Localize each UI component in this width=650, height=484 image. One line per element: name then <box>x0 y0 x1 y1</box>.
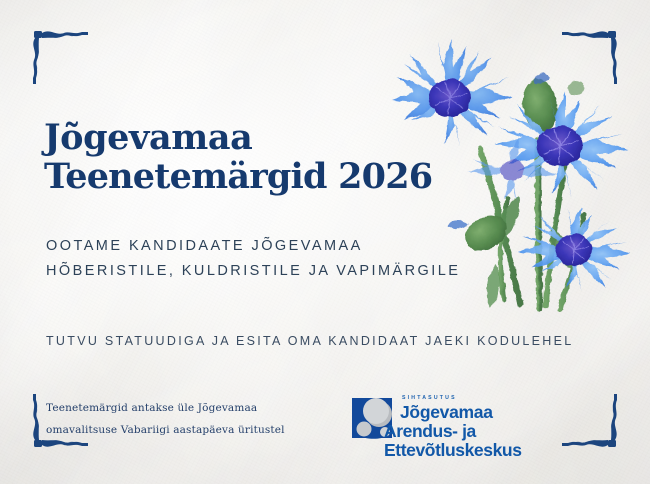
poster-canvas: Jõgevamaa Teenetemärgid 2026 OOTAME KAND… <box>0 0 650 484</box>
logo-wordmark: SIHTASUTUS Jõgevamaa Arendus- ja Ettevõt… <box>400 392 600 460</box>
corner-ornament-top-left <box>14 14 92 92</box>
footnote-line-2: omavalitsuse Vabariigi aastapäeva üritus… <box>46 420 326 442</box>
title-line-1: Jõgevamaa <box>44 118 444 157</box>
logo-line-2: Arendus- ja Ettevõtluskeskus <box>384 422 600 460</box>
page-title: Jõgevamaa Teenetemärgid 2026 <box>44 118 444 196</box>
footnote-block: Teenetemärgid antakse üle Jõgevamaa omav… <box>46 398 326 441</box>
subtitle-block: OOTAME KANDIDAATE JÕGEVAMAA HÕBERISTILE,… <box>46 234 566 284</box>
subtitle-line-2: HÕBERISTILE, KULDRISTILE JA VAPIMÄRGILE <box>46 259 566 284</box>
organization-logo[interactable]: SIHTASUTUS Jõgevamaa Arendus- ja Ettevõt… <box>352 392 600 448</box>
corner-ornament-top-right <box>558 14 636 92</box>
call-to-action-text: TUTVU STATUUDIGA JA ESITA OMA KANDIDAAT … <box>46 334 616 348</box>
title-line-2: Teenetemärgid 2026 <box>44 157 444 196</box>
subtitle-line-1: OOTAME KANDIDAATE JÕGEVAMAA <box>46 234 566 259</box>
logo-line-1: Jõgevamaa <box>400 403 600 422</box>
logo-kicker: SIHTASUTUS <box>400 392 600 401</box>
footnote-line-1: Teenetemärgid antakse üle Jõgevamaa <box>46 398 326 420</box>
